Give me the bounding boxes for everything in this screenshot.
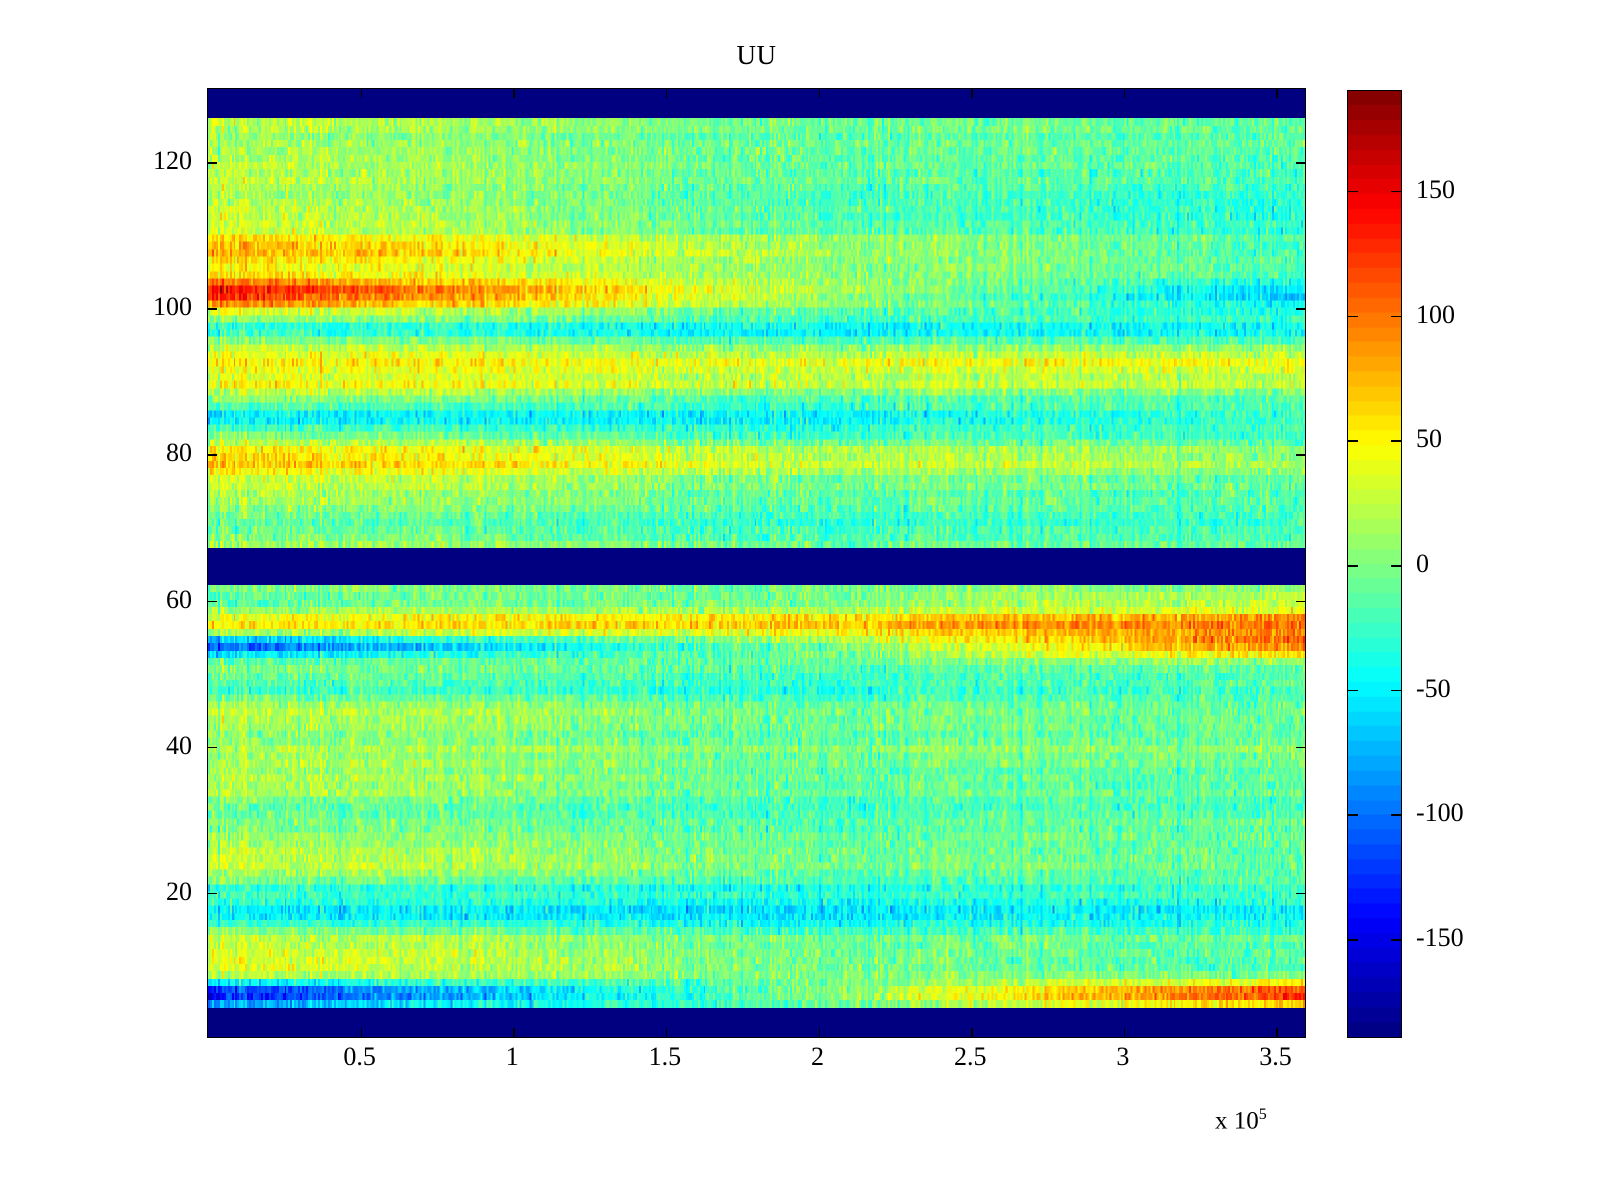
y-axis-tick-right	[1296, 454, 1305, 456]
x-axis-tick-top	[819, 89, 821, 98]
heatmap-image	[208, 89, 1305, 1037]
x-axis-tick	[819, 1028, 821, 1037]
x-axis-tick	[971, 1028, 973, 1037]
y-axis-tick	[208, 454, 217, 456]
y-axis-tick	[208, 162, 217, 164]
colorbar-tick-label: -100	[1416, 800, 1464, 826]
x-axis-tick-label: 3.5	[1259, 1044, 1292, 1070]
y-axis-tick-label: 80	[166, 440, 192, 466]
x-axis-tick-label: 2.5	[954, 1044, 987, 1070]
colorbar-gradient	[1348, 91, 1401, 1037]
x-axis-tick-top	[1124, 89, 1126, 98]
y-axis-tick	[208, 308, 217, 310]
colorbar-tick-label: 100	[1416, 302, 1455, 328]
x-axis-exponent: x 105	[1215, 1106, 1267, 1135]
colorbar-tick-right	[1391, 939, 1401, 941]
colorbar-tick-label: -50	[1416, 676, 1451, 702]
colorbar[interactable]	[1347, 90, 1402, 1038]
y-axis-tick-right	[1296, 893, 1305, 895]
colorbar-tick	[1348, 939, 1358, 941]
colorbar-tick-label: -150	[1416, 925, 1464, 951]
x-axis-tick-top	[361, 89, 363, 98]
y-axis-tick-right	[1296, 308, 1305, 310]
colorbar-tick-right	[1391, 690, 1401, 692]
x-axis-tick-label: 2	[811, 1044, 824, 1070]
colorbar-tick-right	[1391, 565, 1401, 567]
y-axis-tick-right	[1296, 747, 1305, 749]
x-axis-tick-top	[971, 89, 973, 98]
heatmap-axes[interactable]	[207, 88, 1306, 1038]
x-axis-tick-top	[666, 89, 668, 98]
y-axis-tick-right	[1296, 601, 1305, 603]
colorbar-tick-label: 0	[1416, 551, 1429, 577]
page-title: UU	[207, 40, 1306, 71]
colorbar-tick-right	[1391, 316, 1401, 318]
y-axis-tick-right	[1296, 162, 1305, 164]
x-axis-tick-label: 1	[506, 1044, 519, 1070]
y-axis-tick-label: 60	[166, 587, 192, 613]
x-axis-tick-top	[513, 89, 515, 98]
y-axis-tick	[208, 747, 217, 749]
x-axis-exponent-text: x 10	[1215, 1107, 1259, 1134]
figure-canvas: UU 20406080100120 0.511.522.533.5 x 105 …	[0, 0, 1600, 1200]
x-axis-tick	[513, 1028, 515, 1037]
colorbar-tick	[1348, 565, 1358, 567]
y-axis-tick-label: 40	[166, 733, 192, 759]
colorbar-tick	[1348, 690, 1358, 692]
y-axis-tick-label: 100	[153, 294, 192, 320]
x-axis-tick-label: 1.5	[649, 1044, 682, 1070]
x-axis-tick	[1276, 1028, 1278, 1037]
x-axis-tick-label: 3	[1116, 1044, 1129, 1070]
colorbar-tick-right	[1391, 191, 1401, 193]
colorbar-tick-label: 50	[1416, 426, 1442, 452]
x-axis-tick	[1124, 1028, 1126, 1037]
colorbar-tick	[1348, 191, 1358, 193]
x-axis-tick-top	[1276, 89, 1278, 98]
y-axis-tick-label: 120	[153, 148, 192, 174]
y-axis-tick-label: 20	[166, 879, 192, 905]
colorbar-tick-right	[1391, 440, 1401, 442]
x-axis-exponent-power: 5	[1259, 1106, 1267, 1123]
colorbar-tick	[1348, 440, 1358, 442]
colorbar-tick	[1348, 814, 1358, 816]
x-axis-tick	[666, 1028, 668, 1037]
x-axis-tick-label: 0.5	[343, 1044, 376, 1070]
y-axis-tick	[208, 893, 217, 895]
colorbar-tick	[1348, 316, 1358, 318]
colorbar-tick-label: 150	[1416, 177, 1455, 203]
x-axis-tick	[361, 1028, 363, 1037]
y-axis-tick	[208, 601, 217, 603]
colorbar-tick-right	[1391, 814, 1401, 816]
